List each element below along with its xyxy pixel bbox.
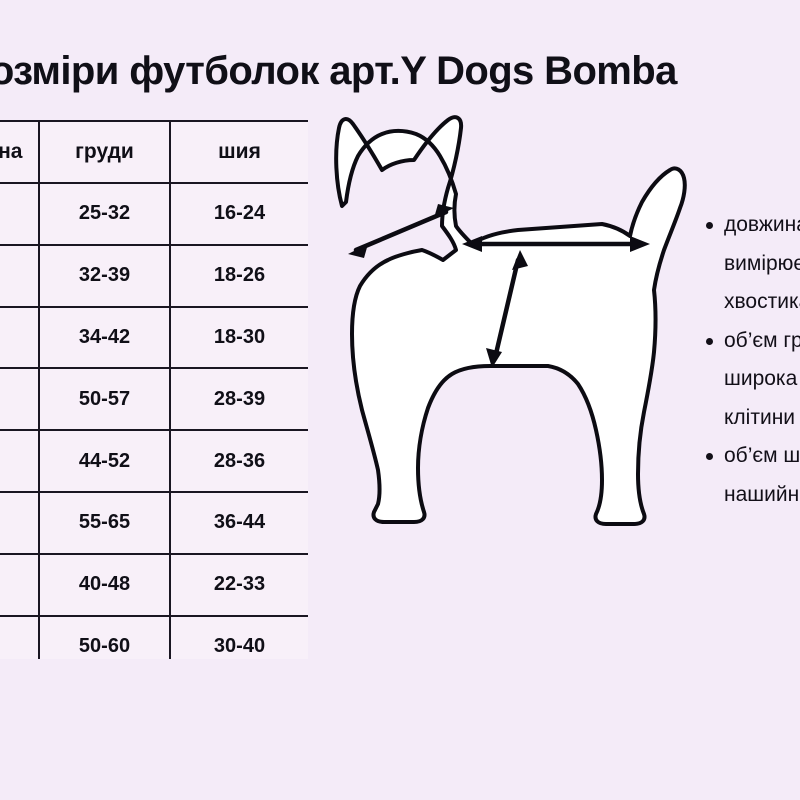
table-row: 32-39 18-26: [0, 245, 308, 307]
cell-neck: 28-39: [170, 368, 308, 430]
list-item: об’єм шиї — нашийник: [724, 437, 800, 514]
size-table: довжина груди шия 25-32 16-24 32-39 18-2…: [0, 120, 308, 659]
cell-neck: 18-26: [170, 245, 308, 307]
neck-girth-arrow: [348, 204, 454, 258]
cell-chest: 44-52: [39, 430, 170, 492]
column-header-length: довжина: [0, 121, 39, 183]
note-line: об’єм грудей —: [724, 322, 800, 361]
cell-neck: 18-30: [170, 307, 308, 369]
dog-silhouette: [336, 117, 685, 524]
note-line: об’єм шиї —: [724, 437, 800, 476]
note-line: довжина спинки: [724, 206, 800, 245]
cell-length: [0, 245, 39, 307]
cell-chest: 34-42: [39, 307, 170, 369]
cell-length: [0, 368, 39, 430]
cell-length: [0, 183, 39, 245]
footer-note-container: при знятті мірок, песик повинен стояти н…: [0, 600, 800, 730]
bullet-icon: [706, 338, 713, 345]
cell-length: [0, 307, 39, 369]
cell-chest: 55-65: [39, 492, 170, 554]
column-header-neck: шия: [170, 121, 308, 183]
table-body: 25-32 16-24 32-39 18-26 34-42 18-30 50-5…: [0, 183, 308, 659]
list-item: об’єм грудей — широка частина клітини: [724, 322, 800, 438]
cell-neck: 16-24: [170, 183, 308, 245]
table-header-row: довжина груди шия: [0, 121, 308, 183]
bullet-icon: [706, 222, 713, 229]
cell-neck: 28-36: [170, 430, 308, 492]
note-line: хвостика: [724, 283, 800, 322]
list-item: довжина спинки вимірюється до хвостика: [724, 206, 800, 322]
table-row: 34-42 18-30: [0, 307, 308, 369]
note-line: вимірюється до: [724, 245, 800, 284]
note-line: клітини: [724, 399, 800, 438]
notes-list: довжина спинки вимірюється до хвостика о…: [700, 206, 800, 514]
page-title: розміри футболок арт.Y Dogs Bomba: [0, 40, 800, 102]
cell-neck: 36-44: [170, 492, 308, 554]
table-row: 44-52 28-36: [0, 430, 308, 492]
poster-canvas: розміри футболок арт.Y Dogs Bomba довжин…: [0, 0, 800, 800]
column-header-chest: груди: [39, 121, 170, 183]
dog-measurement-diagram: [330, 108, 720, 538]
cell-length: [0, 430, 39, 492]
cell-chest: 25-32: [39, 183, 170, 245]
measurement-notes: довжина спинки вимірюється до хвостика о…: [700, 206, 800, 516]
cell-length: [0, 492, 39, 554]
cell-chest: 32-39: [39, 245, 170, 307]
table-row: 50-57 28-39: [0, 368, 308, 430]
table-row: 25-32 16-24: [0, 183, 308, 245]
cell-chest: 50-57: [39, 368, 170, 430]
size-table-container: довжина груди шия 25-32 16-24 32-39 18-2…: [0, 120, 308, 659]
note-line: нашийник: [724, 476, 800, 515]
note-line: широка частина: [724, 360, 800, 399]
bullet-icon: [706, 453, 713, 460]
table-row: 55-65 36-44: [0, 492, 308, 554]
